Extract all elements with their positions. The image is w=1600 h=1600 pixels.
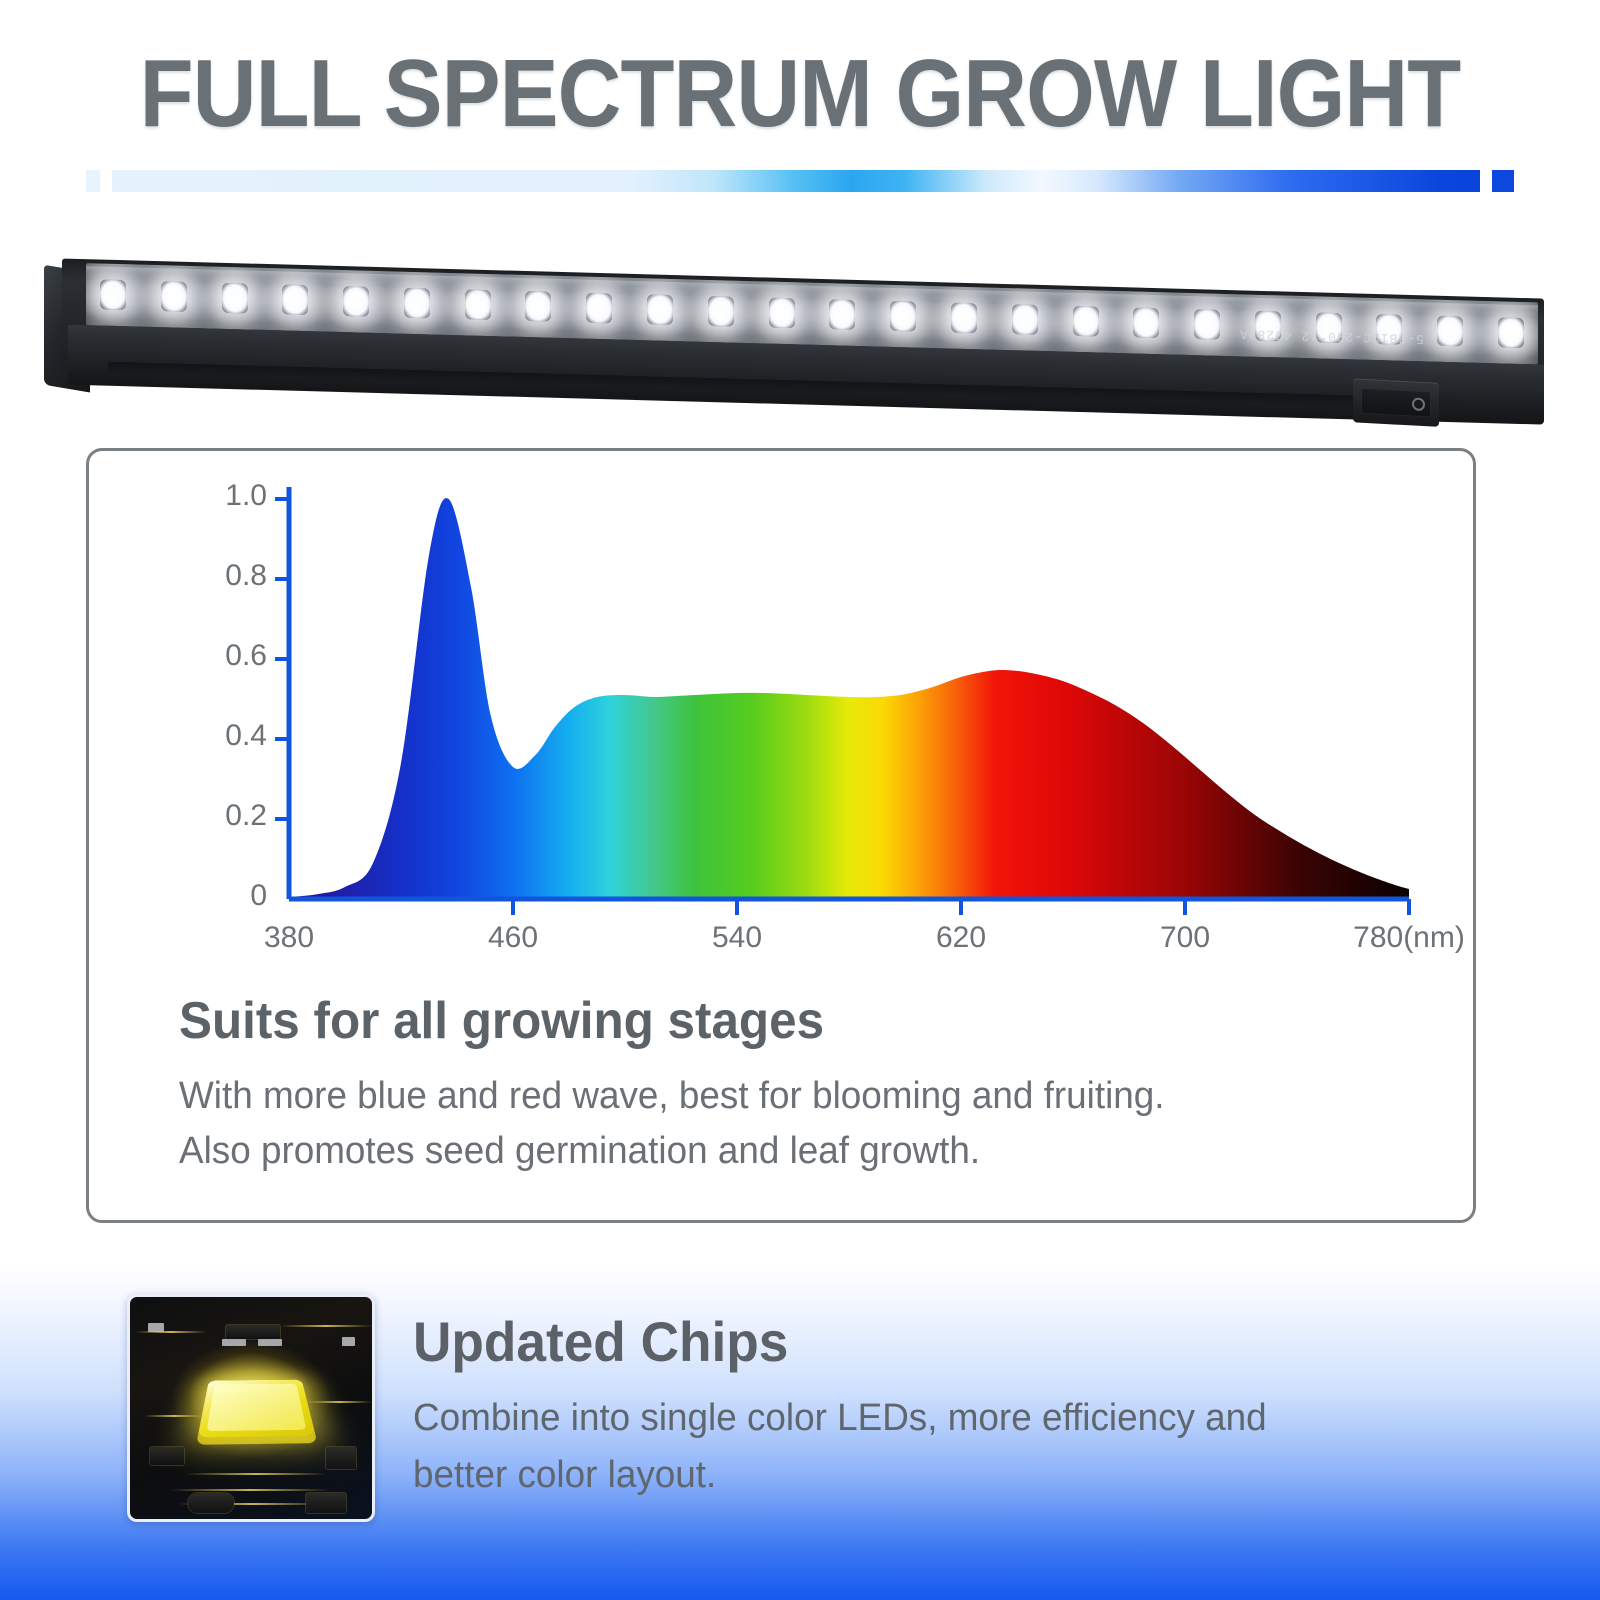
x-axis-tick-label: 460 (438, 921, 588, 955)
power-icon (1412, 397, 1425, 411)
led-emitter (1073, 306, 1099, 337)
accent-gradient-bar (86, 170, 1514, 192)
led-emitter (951, 303, 977, 334)
led-emitter (769, 298, 795, 329)
updated-chips-body: Combine into single color LEDs, more eff… (413, 1390, 1461, 1504)
updated-chips-line1: Combine into single color LEDs, more eff… (413, 1390, 1461, 1447)
led-emitter (222, 283, 248, 314)
led-emitter (890, 301, 916, 332)
spectrum-caption-line1: With more blue and red wave, best for bl… (179, 1069, 1411, 1124)
header: FULL SPECTRUM GROW LIGHT (0, 0, 1600, 215)
led-emitter (708, 296, 734, 327)
x-axis-tick-label: 620 (886, 921, 1036, 955)
led-emitter (282, 284, 308, 315)
led-emitter (161, 281, 187, 312)
spectrum-panel: 00.20.40.60.81.0 380460540620700780(nm) … (86, 448, 1476, 1223)
led-emitter (343, 286, 369, 317)
led-emitter (1498, 317, 1524, 348)
spectrum-curve-area (289, 498, 1409, 899)
page-title: FULL SPECTRUM GROW LIGHT (64, 46, 1536, 142)
power-switch[interactable] (1353, 378, 1439, 427)
y-axis-tick-label: 0 (177, 879, 267, 913)
updated-chips-section: Updated Chips Combine into single color … (0, 1264, 1600, 1600)
y-axis-tick-label: 0.8 (177, 559, 267, 593)
led-emitter (1133, 307, 1159, 338)
spectrum-caption-body: With more blue and red wave, best for bl… (179, 1069, 1411, 1179)
led-emitter (100, 280, 126, 311)
led-emitter (1194, 309, 1220, 340)
led-chip-photo (127, 1294, 375, 1522)
led-emitter (829, 299, 855, 330)
x-axis-tick-label: 380 (214, 921, 364, 955)
y-axis-tick-label: 0.2 (177, 799, 267, 833)
led-emitter (647, 294, 673, 325)
led-emitter (404, 288, 430, 319)
x-axis-tick-label: 540 (662, 921, 812, 955)
updated-chips-line2: better color layout. (413, 1447, 1461, 1504)
led-emitter (525, 291, 551, 322)
accent-bar-gradient (112, 170, 1480, 192)
product-photo: 5-2B12C-290*12 40289A (0, 222, 1600, 422)
x-axis-tick-label: 700 (1110, 921, 1260, 955)
led-emitter (586, 293, 612, 324)
spectrum-chart: 00.20.40.60.81.0 380460540620700780(nm) (89, 469, 1479, 969)
y-axis-tick-label: 1.0 (177, 479, 267, 513)
spectrum-caption-title: Suits for all growing stages (179, 991, 824, 1051)
led-emitter (1437, 316, 1463, 347)
light-bar-body: 5-2B12C-290*12 40289A (44, 232, 1544, 438)
led-emitter (465, 289, 491, 320)
led-emitter (1012, 304, 1038, 335)
spectrum-chart-svg (89, 469, 1479, 969)
y-axis-tick-label: 0.6 (177, 639, 267, 673)
updated-chips-title: Updated Chips (413, 1309, 788, 1374)
x-axis-tick-label: 780(nm) (1334, 921, 1484, 955)
spectrum-caption-line2: Also promotes seed germination and leaf … (179, 1124, 1411, 1179)
accent-bar-left-cap (86, 170, 100, 192)
accent-bar-right-cap (1492, 170, 1514, 192)
accent-bar-gap-left (100, 170, 112, 192)
led-chip-die (198, 1380, 316, 1438)
y-axis-tick-label: 0.4 (177, 719, 267, 753)
accent-bar-gap-right (1480, 170, 1492, 192)
led-grow-light-bar: 5-2B12C-290*12 40289A (44, 232, 1544, 412)
